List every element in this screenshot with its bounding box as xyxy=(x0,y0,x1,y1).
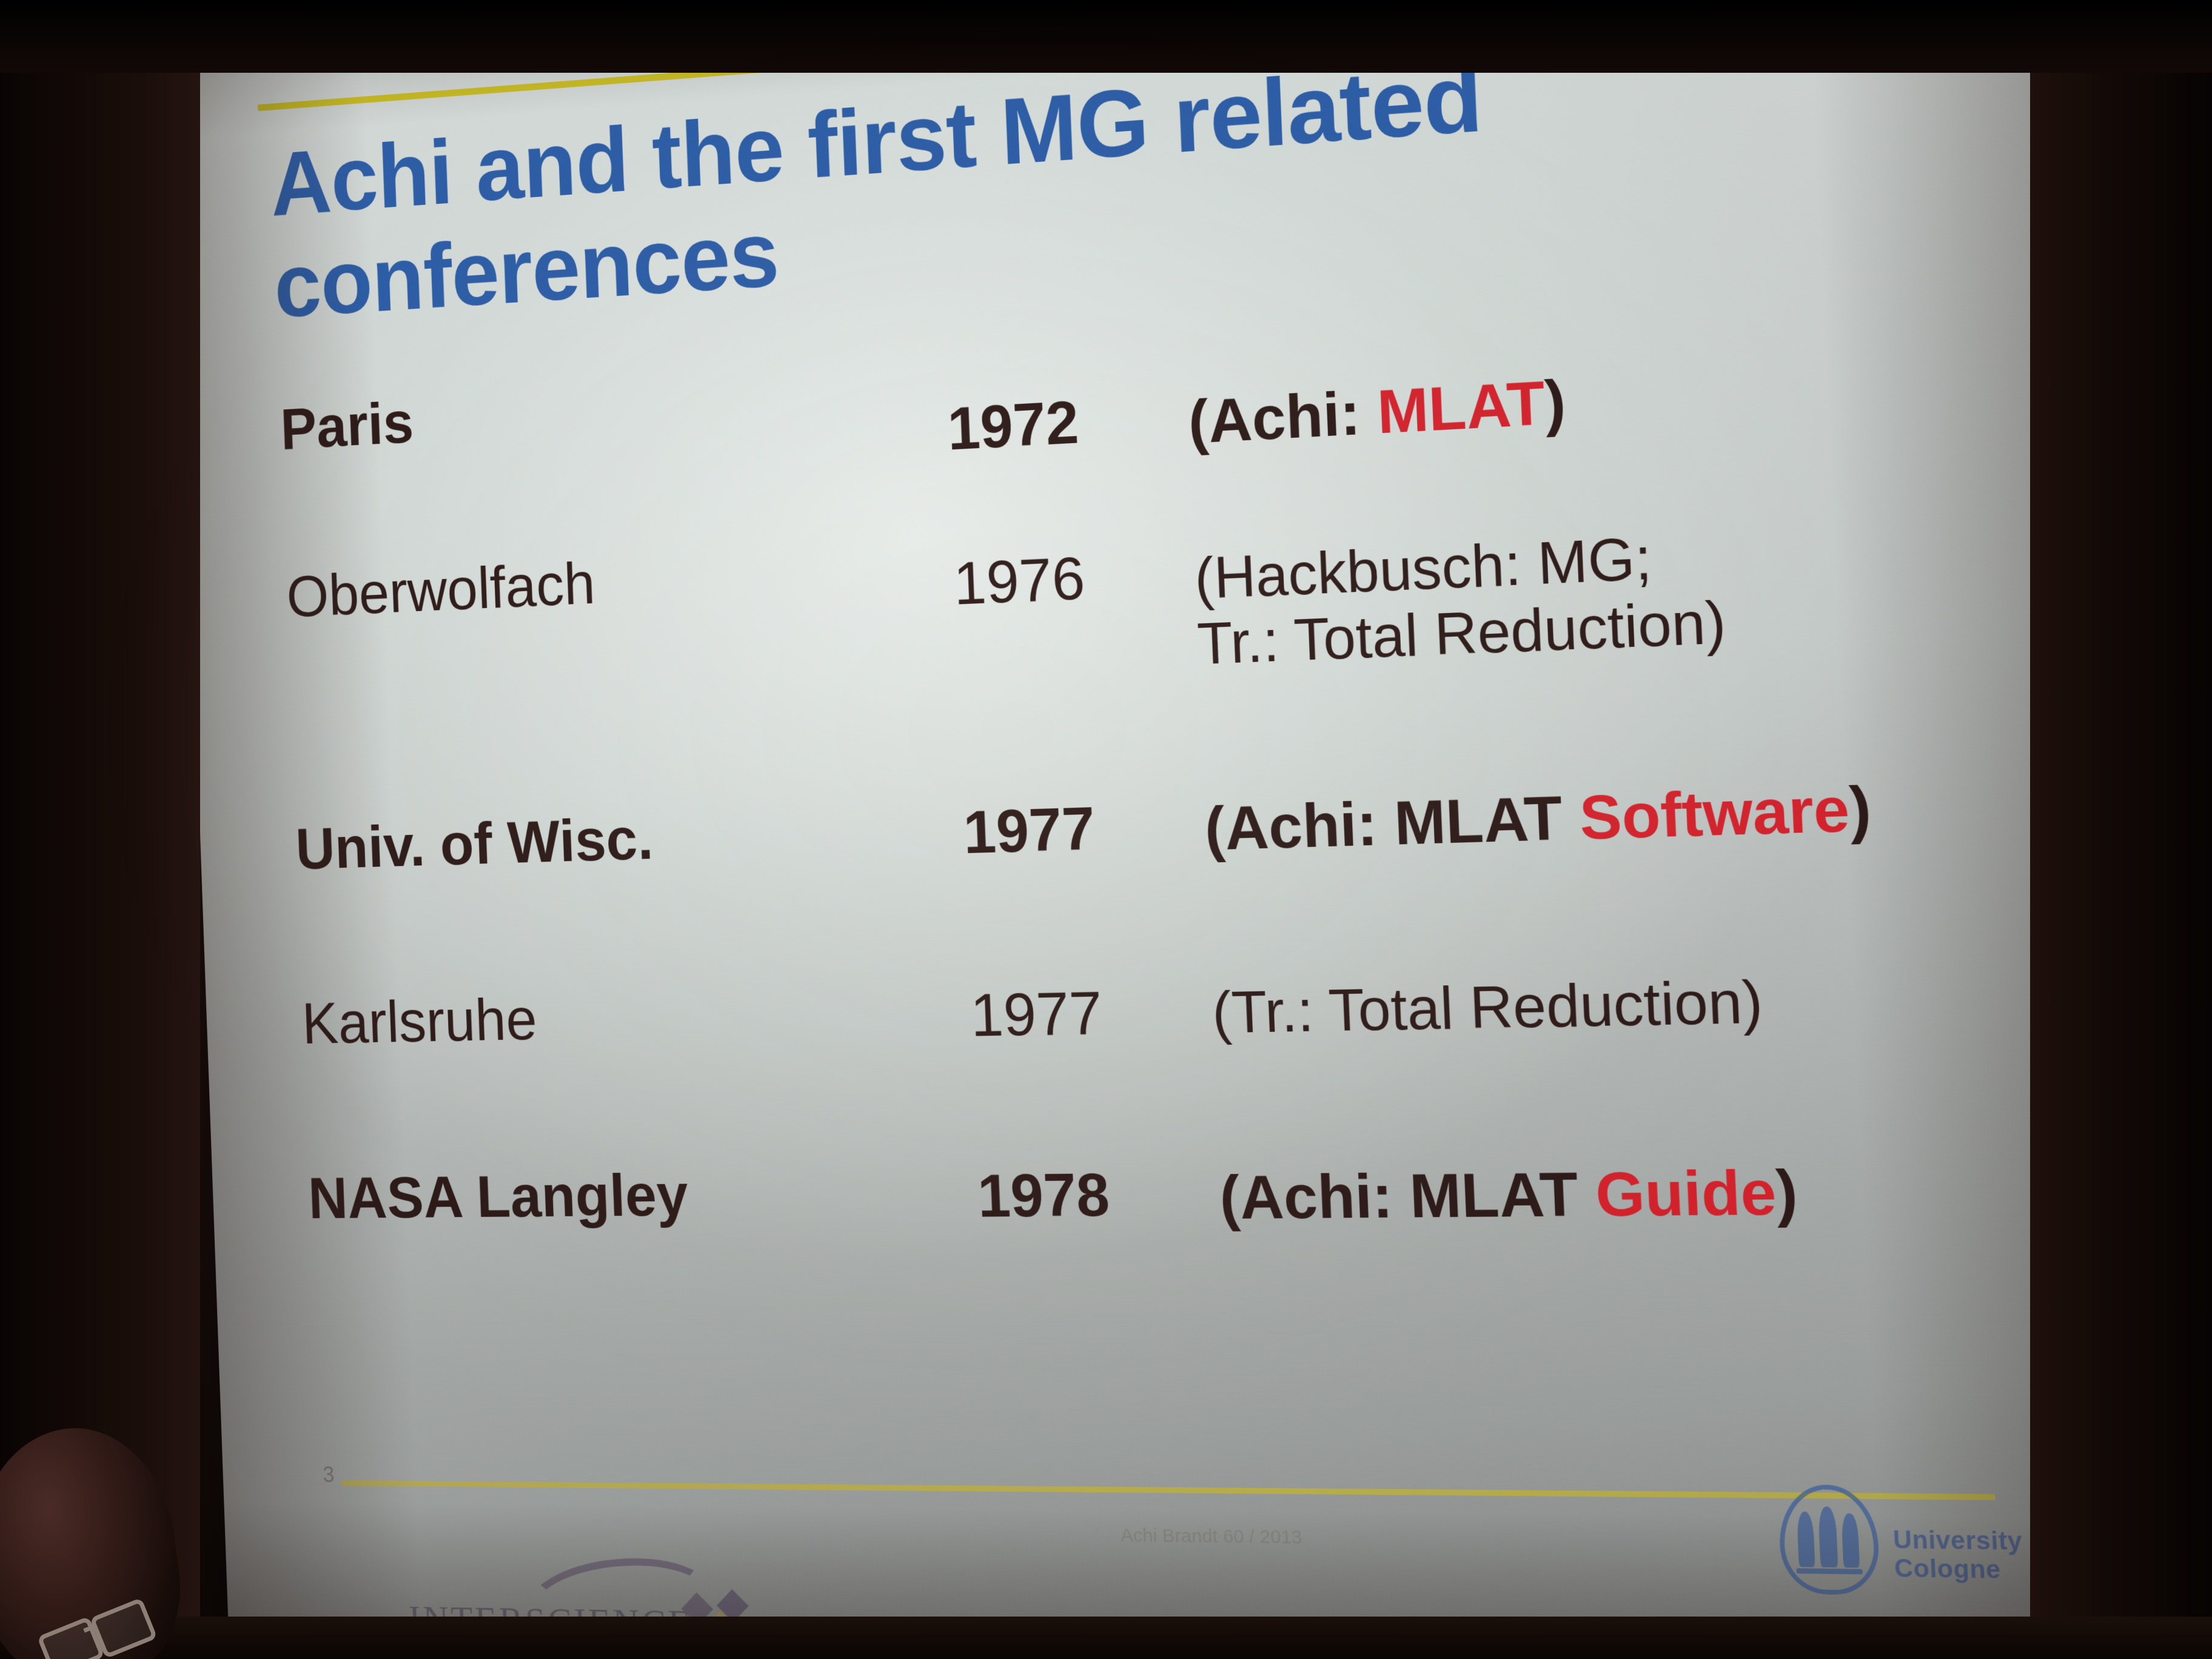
note-text: (Hackbusch: MG; Tr.: Total Reduction) xyxy=(1193,526,1727,677)
note-text: ) xyxy=(1775,1158,1799,1228)
note-text: ) xyxy=(1848,774,1872,845)
room-bottom-shadow xyxy=(0,1617,2212,1659)
conference-year: 1972 xyxy=(947,389,1080,463)
conference-place: Paris xyxy=(280,390,415,462)
projection-screen-wrapper: Weizmann Workshop 2013 Achi and the firs… xyxy=(0,0,2212,1659)
conference-year: 1978 xyxy=(976,1161,1110,1230)
projection-screen: Weizmann Workshop 2013 Achi and the firs… xyxy=(170,0,2187,1659)
conference-place: Univ. of Wisc. xyxy=(295,806,654,882)
conference-place: Karlsruhe xyxy=(301,987,538,1056)
note-text: (Achi: xyxy=(1187,378,1379,457)
note-highlight: MLAT xyxy=(1376,369,1546,446)
note-highlight: Software xyxy=(1578,775,1851,853)
room-left-shadow xyxy=(0,0,200,1659)
conference-year: 1976 xyxy=(953,545,1086,618)
room-right-shadow xyxy=(2030,0,2212,1659)
note-text: ) xyxy=(1543,368,1567,438)
conference-row: Univ. of Wisc.1977(Achi: MLAT Software) xyxy=(199,757,2142,821)
conference-row: Karlsruhe1977(Tr.: Total Reduction) xyxy=(206,951,2151,994)
conference-year: 1977 xyxy=(970,979,1104,1050)
eyeglasses-icon xyxy=(37,1598,147,1659)
conference-row: Oberwolfach1976(Hackbusch: MG; Tr.: Tota… xyxy=(190,477,2130,570)
university-seal-icon xyxy=(1777,1484,1880,1595)
conference-note: (Achi: MLAT) xyxy=(1187,368,1567,457)
note-text: (Tr.: Total Reduction) xyxy=(1211,969,1764,1045)
conference-note: (Achi: MLAT Software) xyxy=(1204,774,1872,863)
note-text: (Achi: MLAT xyxy=(1218,1160,1597,1232)
note-text: (Achi: MLAT xyxy=(1204,783,1581,863)
footer-center-text: Achi Brandt 60 / 2013 xyxy=(1121,1525,1303,1549)
conference-place: NASA Langley xyxy=(307,1162,689,1232)
room-top-shadow xyxy=(0,0,2212,73)
conference-note: (Achi: MLAT Guide) xyxy=(1218,1158,1799,1232)
conference-place: Oberwolfach xyxy=(286,551,596,630)
slide-number: 3 xyxy=(323,1462,335,1487)
conference-note: (Tr.: Total Reduction) xyxy=(1211,969,1764,1046)
screenshot-stage: Weizmann Workshop 2013 Achi and the firs… xyxy=(0,0,2212,1659)
conference-year: 1977 xyxy=(962,795,1096,866)
conference-row: NASA Langley1978(Achi: MLAT Guide) xyxy=(212,1146,2160,1168)
bottom-rule-divider xyxy=(341,1480,1996,1500)
note-highlight: Guide xyxy=(1594,1158,1778,1230)
conference-note: (Hackbusch: MG; Tr.: Total Reduction) xyxy=(1193,522,1727,677)
presentation-slide: Weizmann Workshop 2013 Achi and the firs… xyxy=(170,0,2187,1659)
